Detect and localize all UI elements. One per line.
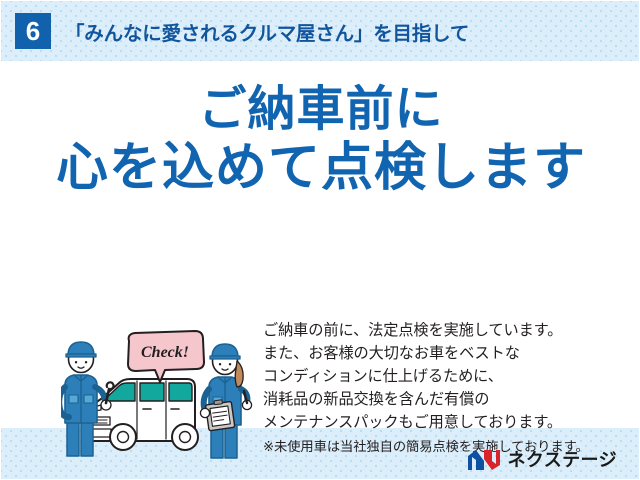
body-copy: ご納車の前に、法定点検を実施しています。 また、お客様の大切なお車をベストな コ…	[263, 319, 633, 458]
body-line-3: コンディションに仕上げるために、	[263, 365, 633, 388]
body-line-5: メンテナンスパックもご用意しております。	[263, 411, 633, 434]
body-line-2: また、お客様の大切なお車をベストな	[263, 342, 633, 365]
promo-card: 6 「みんなに愛されるクルマ屋さん」を目指して ご納車前に 心を込めて点検します	[0, 0, 640, 480]
illustration-svg: Check!	[61, 329, 266, 461]
speech-bubble-text: Check!	[141, 344, 189, 361]
body-line-1: ご納車の前に、法定点検を実施しています。	[263, 319, 633, 342]
content-panel: ご納車前に 心を込めて点検します	[1, 61, 640, 428]
step-number-badge: 6	[15, 13, 51, 49]
headline-line-2: 心を込めて点検します	[1, 141, 640, 195]
mechanics-illustration: Check!	[61, 329, 266, 461]
brand-logo: ネクステージ	[467, 445, 618, 475]
nextage-n-mark-icon	[467, 448, 501, 472]
header: 6 「みんなに愛されるクルマ屋さん」を目指して	[1, 1, 640, 61]
mechanic-right	[200, 344, 251, 458]
body-line-4: 消耗品の新品交換を含んだ有償の	[263, 388, 633, 411]
brand-name: ネクステージ	[508, 451, 618, 469]
headline-line-1: ご納車前に	[1, 85, 640, 135]
page-title: 「みんなに愛されるクルマ屋さん」を目指して	[65, 17, 469, 46]
van-graphic	[91, 379, 198, 450]
headline: ご納車前に 心を込めて点検します	[1, 85, 640, 195]
